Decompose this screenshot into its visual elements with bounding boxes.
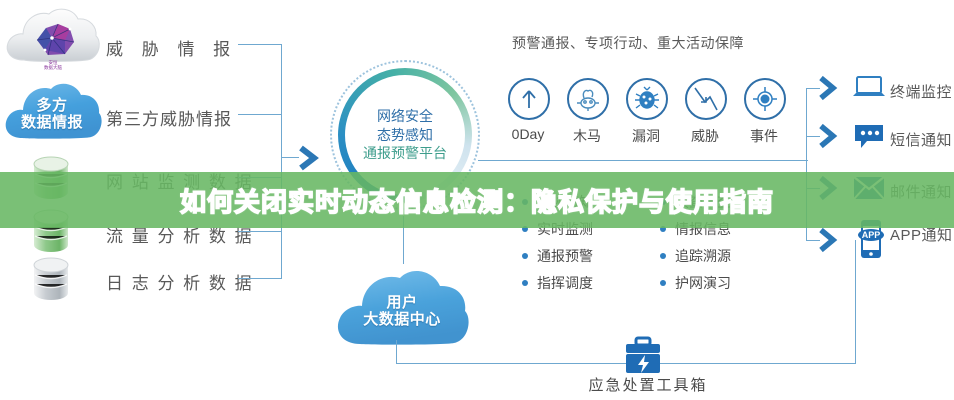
icon-caption-trojan: 木马 [557, 126, 617, 146]
icon-caption-event: 事件 [734, 126, 794, 146]
threat-intel-cloud: 安恒 数据大脑 [2, 2, 102, 74]
capability-item-label-0-2: 指挥调度 [537, 273, 593, 293]
capability-item-label-1-1: 追踪溯源 [675, 246, 731, 266]
connector-bottom-right-v [855, 240, 856, 364]
output-label-terminal: 终端监控 [890, 81, 952, 102]
capability-item-0-2: 指挥调度 [522, 273, 593, 293]
bullet-dot-icon [660, 253, 666, 259]
app-badge-text: APP [862, 230, 881, 240]
source-label-threat-intel: 威 胁 情 报 [106, 35, 237, 60]
capability-item-label-0-1: 通报预警 [537, 246, 593, 266]
overlay-banner-title: 如何关闭实时动态信息检测：隐私保护与使用指南 [0, 172, 954, 228]
platform-title-line-3: 通报预警平台 [363, 144, 447, 163]
toolbox-label: 应急处置工具箱 [578, 374, 718, 395]
connector-h-4 [238, 231, 282, 232]
icon-caption-threat: 威胁 [675, 126, 735, 146]
connector-h-5 [238, 278, 282, 279]
capability-item-label-1-2: 护网演习 [675, 273, 731, 293]
connector-h-1 [238, 44, 282, 45]
arrow-to-terminal-icon [816, 74, 844, 107]
bullet-dot-icon [522, 253, 528, 259]
capability-item-1-1: 追踪溯源 [660, 246, 731, 266]
db-icon-log [30, 256, 72, 307]
user-bigdata-cloud: 用户 大数据中心 [332, 262, 472, 354]
arrow-to-sms-icon [816, 122, 844, 155]
event-target-icon [744, 78, 786, 120]
multi-party-cloud: 多方 数据情报 [2, 76, 102, 148]
sms-bubble-icon [852, 122, 886, 155]
connector-bus-left [281, 44, 282, 279]
source-label-third-party: 第三方威胁情报 [106, 105, 232, 130]
platform-title-line-1: 网络安全 [377, 107, 433, 126]
connector-h-2 [238, 114, 282, 115]
platform-title-line-2: 态势感知 [377, 126, 433, 145]
capability-item-1-2: 护网演习 [660, 273, 731, 293]
source-label-log-analysis: 日 志 分 析 数 据 [106, 269, 254, 294]
icon-caption-0day: 0Day [498, 126, 558, 142]
arrow-to-app-icon [816, 226, 844, 259]
icon-caption-vulnerability: 漏洞 [616, 126, 676, 146]
vulnerability-bug-icon [626, 78, 668, 120]
capability-item-0-1: 通报预警 [522, 246, 593, 266]
trojan-horse-icon [567, 78, 609, 120]
svg-text:数据大脑: 数据大脑 [44, 64, 62, 71]
icon-row-title: 预警通报、专项行动、重大活动保障 [512, 33, 744, 53]
bullet-dot-icon [660, 280, 666, 286]
threat-arrow-down-icon [685, 78, 727, 120]
laptop-icon [852, 74, 886, 107]
output-label-sms: 短信通知 [890, 129, 952, 150]
connector-cloud-down [396, 340, 397, 364]
bullet-dot-icon [522, 280, 528, 286]
infographic-canvas: 安恒 数据大脑 多方 数据情报 [0, 0, 954, 400]
zero-day-arrow-up-icon [508, 78, 550, 120]
icon-row-divider [478, 160, 808, 161]
